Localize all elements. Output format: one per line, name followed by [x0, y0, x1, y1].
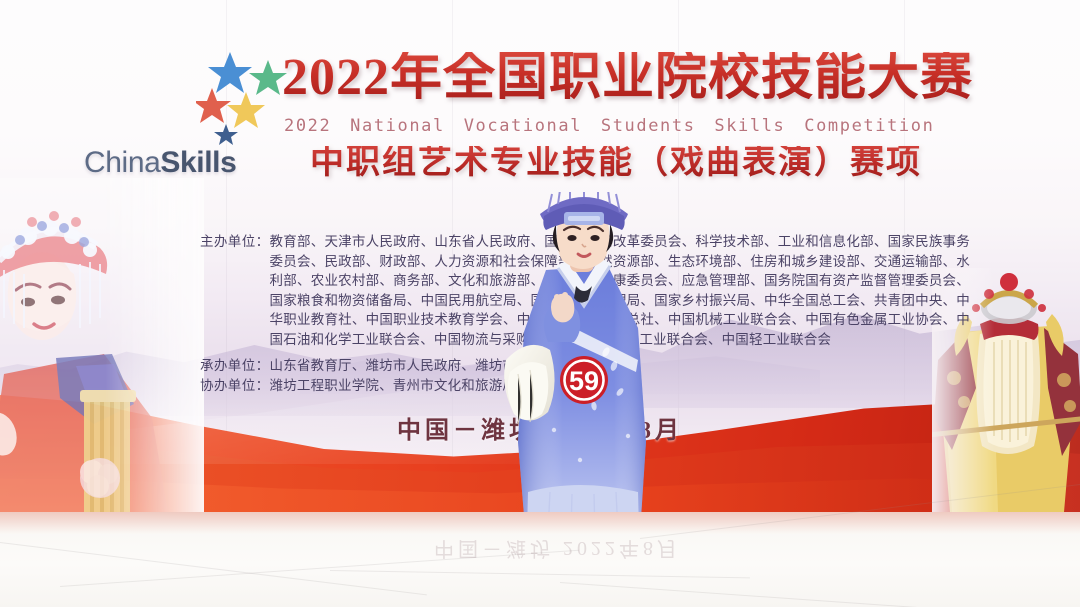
organizer-label-coorg: 协办单位：: [200, 376, 270, 396]
stage-photo: ChinaSkills 2022年全国职业院校技能大赛 2022 Nationa…: [0, 0, 1080, 607]
floor-red-reflection: [0, 512, 1080, 534]
floor-tile-line: [330, 570, 750, 578]
logo-stars-icon: [196, 50, 296, 146]
opera-dan-character-illustration: [0, 178, 204, 512]
venue-floor: 中国－潍坊 2022年8月: [0, 512, 1080, 607]
organizer-label-main: 主办单位：: [200, 232, 270, 252]
logo-word-skills: Skills: [160, 146, 236, 179]
floor-tile-line: [0, 542, 427, 595]
event-subtitle-chinese: 中职组艺术专业技能（戏曲表演）赛项: [310, 146, 922, 180]
event-title-english: 2022 National Vocational Students Skills…: [284, 116, 934, 136]
svg-text:59: 59: [569, 366, 599, 396]
floor-text-reflection: 中国－潍坊 2022年8月: [434, 536, 681, 565]
logo-word-china: China: [84, 146, 160, 179]
event-title-chinese: 2022年全国职业院校技能大赛: [282, 52, 973, 104]
contestant-number-badge: 59: [560, 356, 608, 404]
chinaskills-wordmark: ChinaSkills: [84, 146, 236, 180]
organizer-label-host: 承办单位：: [200, 356, 270, 376]
floor-tile-line: [560, 582, 1079, 607]
chinaskills-logo: ChinaSkills: [84, 46, 294, 186]
